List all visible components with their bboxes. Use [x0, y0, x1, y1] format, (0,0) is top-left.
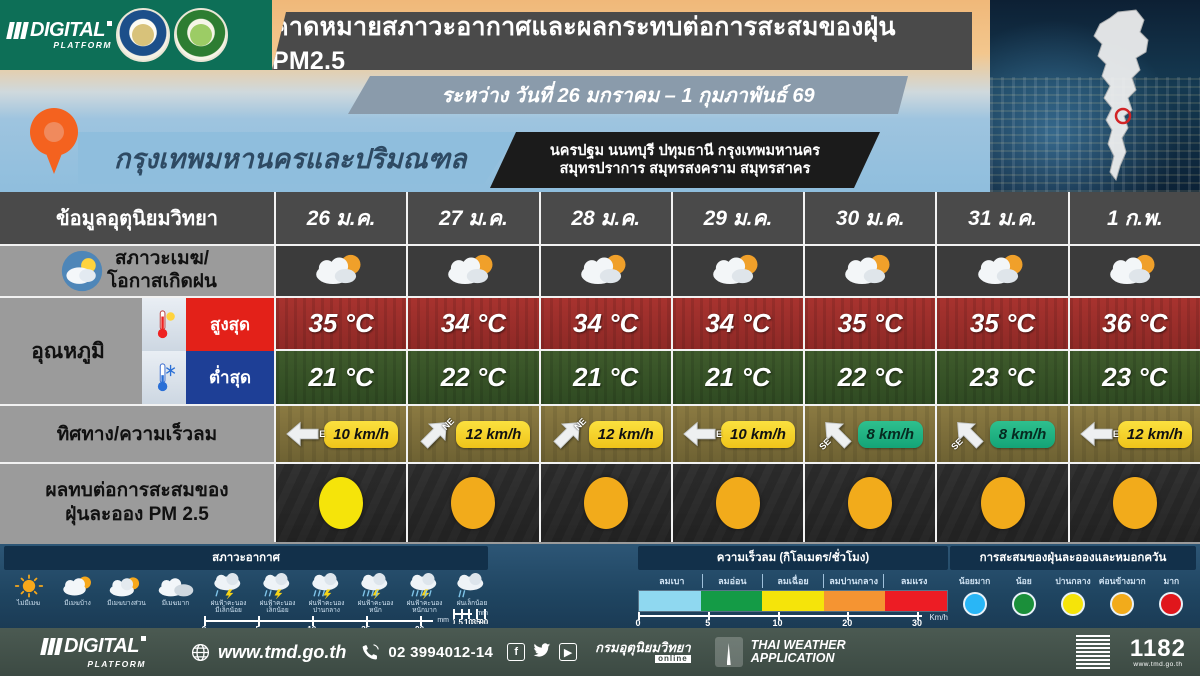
cloud-legend-label: มีเมฆบางส่วน [107, 600, 146, 607]
sky-label-line-2: โอกาสเกิดฝน [107, 271, 217, 294]
phone-info[interactable]: 02 3994012-14 [360, 642, 493, 663]
temp-low-cell-1: 22 °C [408, 351, 540, 404]
wind-axis-tick: 20 [842, 618, 852, 628]
rain-scale-rain: 05103590mm [453, 608, 488, 624]
cloud-sun-icon [108, 573, 146, 599]
date-header-cell-3: 29 ม.ค. [673, 192, 805, 244]
wind-legend-label-0: ลมเบา [642, 574, 703, 588]
date-header-cell-5: 31 ม.ค. [937, 192, 1069, 244]
royal-seal-icon [116, 8, 170, 62]
app-name: THAI WEATHER APPLICATION [751, 639, 846, 665]
pm-legend-label: ค่อนข้างมาก [1099, 574, 1146, 588]
pm25-cell-1 [408, 464, 540, 542]
pm25-cell-5 [937, 464, 1069, 542]
temp-high-value: 34 °C [441, 308, 506, 339]
pm-legend-dot [1012, 592, 1036, 616]
date-header-cell-1: 27 ม.ค. [408, 192, 540, 244]
wind-color-segment-3 [824, 591, 886, 611]
wind-scale: ลมเบาลมอ่อนลมเฉื่อยลมปานกลางลมแรง 051020… [638, 574, 948, 628]
sun-icon [14, 573, 44, 599]
pm25-label-line-1: ผลทบต่อการสะสมของ [45, 479, 228, 503]
temp-high-value: 36 °C [1102, 308, 1167, 339]
date-label: 1 ก.พ. [1107, 202, 1163, 235]
cloud-legend-item-0: ไม่มีเมฆ [4, 573, 53, 607]
partly-cloudy-icon [575, 250, 637, 293]
wind-direction-arrow-icon: E [681, 417, 719, 451]
thunder-legend-group: ฝนฟ้าคะนองมีเล็กน้อยฝนฟ้าคะนองเล็กน้อยฝน… [204, 570, 449, 631]
wind-cell-2: NE12 km/h [541, 406, 673, 462]
wind-direction-arrow-icon: NE [549, 417, 587, 451]
thunder-legend-items: ฝนฟ้าคะนองมีเล็กน้อยฝนฟ้าคะนองเล็กน้อยฝน… [204, 573, 449, 614]
wind-axis-tick: 10 [772, 618, 782, 628]
sky-label-line-1: สภาวะเมฆ/ [107, 248, 217, 271]
temperature-key: สูงสุด [142, 298, 274, 404]
wind-cell-4: SE8 km/h [805, 406, 937, 462]
pm-legend-item-2: ปานกลาง [1048, 574, 1097, 616]
sky-cell-0 [276, 246, 408, 296]
pm-legend-title: การสะสมของฝุ่นละอองและหมอกควัน [950, 546, 1196, 570]
thunder-legend-item-0: ฝนฟ้าคะนองมีเล็กน้อย [204, 573, 253, 614]
date-header-cell-2: 28 ม.ค. [541, 192, 673, 244]
temp-low-text: ต่ำสุด [186, 351, 274, 404]
temp-high-value: 34 °C [705, 308, 770, 339]
date-range-banner: ระหว่าง วันที่ 26 มกราคม – 1 กุมภาพันธ์ … [348, 76, 908, 114]
legend-bar: สภาวะอากาศ ไม่มีเมฆมีเมฆบ้างมีเมฆบางส่วน… [0, 544, 1200, 628]
wind-speed-badge: 12 km/h [589, 421, 663, 448]
footer-brand-name: DIGITAL [64, 635, 139, 658]
pm25-level-dot [1113, 477, 1157, 529]
facebook-icon[interactable]: f [507, 643, 525, 661]
thunder-legend-item-2: ฝนฟ้าคะนองปานกลาง [302, 573, 351, 614]
wind-direction-label: E [716, 429, 722, 439]
temp-low-value: 22 °C [441, 362, 506, 393]
cloud-legend-item-3: มีเมฆมาก [151, 573, 200, 607]
wind-cell-6: E12 km/h [1070, 406, 1200, 462]
cloud-legend-item-1: มีเมฆบ้าง [53, 573, 102, 607]
thunder-legend-label: ฝนฟ้าคะนองเล็กน้อย [260, 600, 296, 614]
temp-high-text: สูงสุด [186, 298, 274, 351]
scale-unit: mm [476, 610, 488, 617]
footer-brand-sub: PLATFORM [87, 659, 146, 669]
date-header-cell-4: 30 ม.ค. [805, 192, 937, 244]
rain-legend-label: ฝนเล็กน้อย [457, 600, 488, 607]
sky-cell-3 [673, 246, 805, 296]
thunder-very-heavy-icon [406, 573, 444, 599]
partly-cloudy-icon [1104, 250, 1166, 293]
pm25-level-dot [451, 477, 495, 529]
thunder-legend-label: ฝนฟ้าคะนองหนักมาก [407, 600, 443, 614]
department-name: กรมอุตุนิยมวิทยา [595, 641, 691, 655]
wind-direction-arrow-icon: E [1078, 417, 1116, 451]
temp-low-value: 23 °C [1102, 362, 1167, 393]
wind-legend: ความเร็วลม (กิโลเมตร/ชั่วโมง) ลมเบาลมอ่อ… [494, 544, 944, 628]
wind-legend-label-1: ลมอ่อน [703, 574, 764, 588]
pm25-cell-6 [1070, 464, 1200, 542]
wind-speed-badge: 10 km/h [721, 421, 795, 448]
temp-high-cell-3: 34 °C [673, 298, 805, 351]
wind-direction-arrow-icon: NE [416, 417, 454, 451]
partly-cloudy-icon [707, 250, 769, 293]
pm-legend-item-0: น้อยมาก [950, 574, 999, 616]
wind-direction-arrow-icon: E [284, 417, 322, 451]
wind-color-segment-1 [701, 591, 763, 611]
hotline-number: 1182 [1130, 637, 1186, 661]
region-name: กรุงเทพมหานครและปริมณฑล [114, 137, 467, 180]
temp-low-cell-4: 22 °C [805, 351, 937, 404]
main-title-text: คาดหมายสภาวะอากาศและผลกระทบต่อการสะสมของ… [272, 7, 972, 76]
temperature-label-text: อุณหภูมิ [0, 335, 136, 368]
footer-logo-square-icon [141, 636, 146, 641]
cloud-legend-item-2: มีเมฆบางส่วน [102, 573, 151, 607]
date-range-text: ระหว่าง วันที่ 26 มกราคม – 1 กุมภาพันธ์ … [441, 79, 814, 111]
qr-caption: www.tmd.go.th [1133, 661, 1182, 668]
sky-cell-1 [408, 246, 540, 296]
pm-legend-label: ปานกลาง [1055, 574, 1090, 588]
wind-color-segment-4 [885, 591, 947, 611]
pm-legend-dot [1061, 592, 1085, 616]
pm-legend-dot [1110, 592, 1134, 616]
footer-logo: DIGITAL PLATFORM [42, 635, 146, 669]
date-label: 27 ม.ค. [439, 202, 508, 235]
partly-cloudy-icon [839, 250, 901, 293]
temp-high-cells: 35 °C34 °C34 °C34 °C35 °C35 °C36 °C [276, 298, 1200, 351]
pm25-row: ผลทบต่อการสะสมของ ฝุ่นละออง PM 2.5 [0, 464, 1200, 542]
globe-icon [190, 642, 211, 663]
pm25-label-line-2: ฝุ่นละออง PM 2.5 [65, 503, 209, 527]
location-pin-icon [30, 108, 78, 176]
temp-high-key: สูงสุด [142, 298, 274, 351]
cloud-legend-items: ไม่มีเมฆมีเมฆบ้างมีเมฆบางส่วนมีเมฆมาก [4, 573, 200, 607]
twitter-icon[interactable] [532, 640, 552, 665]
pm25-level-dot [319, 477, 363, 529]
temp-low-cells: 21 °C22 °C21 °C21 °C22 °C23 °C23 °C [276, 351, 1200, 404]
wind-direction-label: E [1113, 429, 1119, 439]
wind-row: ทิศทาง/ความเร็วลม E10 km/hNE12 km/hNE12 … [0, 406, 1200, 464]
website-link[interactable]: www.tmd.go.th [190, 642, 346, 663]
weather-infographic: DIGITAL PLATFORM คาดหมายสภาวะอากาศและผลก… [0, 0, 1200, 676]
department-label: กรมอุตุนิยมวิทยา online [595, 641, 691, 663]
thunder-legend-label: ฝนฟ้าคะนองหนัก [358, 600, 394, 614]
brand-sub: PLATFORM [53, 41, 112, 50]
date-header-cell-6: 1 ก.พ. [1070, 192, 1200, 244]
wind-direction-arrow-icon: SE [818, 417, 856, 451]
wind-legend-label-4: ลมแรง [884, 574, 944, 588]
pm25-level-dot [716, 477, 760, 529]
wind-axis-tick: 5 [705, 618, 710, 628]
temp-low-key: ต่ำสุด [142, 351, 274, 404]
province-line-2: สมุทรปราการ สมุทรสงคราม สมุทรสาคร [560, 160, 811, 178]
wind-label: ทิศทาง/ความเร็วลม [0, 406, 276, 462]
sky-cell-6 [1070, 246, 1200, 296]
wind-direction-arrow-icon: SE [950, 417, 988, 451]
city-photo [990, 0, 1200, 192]
pm25-label: ผลทบต่อการสะสมของ ฝุ่นละออง PM 2.5 [0, 464, 276, 542]
partly-cloudy-icon [310, 250, 372, 293]
youtube-icon[interactable]: ▶ [559, 643, 577, 661]
wind-color-segment-0 [639, 591, 701, 611]
wind-legend-label-2: ลมเฉื่อย [763, 574, 824, 588]
rain-legend-items: ฝนเล็กน้อยฝนเล็กน้อยฝนปานกลางฝนหนักฝนหนั… [453, 573, 488, 607]
thunder-icon [210, 573, 248, 599]
wind-legend-title: ความเร็วลม (กิโลเมตร/ชั่วโมง) [638, 546, 948, 570]
main-title: คาดหมายสภาวะอากาศและผลกระทบต่อการสะสมของ… [272, 12, 972, 70]
temp-low-cell-5: 23 °C [937, 351, 1069, 404]
table-header-row: ข้อมูลอุตุนิยมวิทยา 26 ม.ค.27 ม.ค.28 ม.ค… [0, 192, 1200, 246]
pm-legend-dot [1159, 592, 1183, 616]
wind-speed-badge: 12 km/h [456, 421, 530, 448]
digital-platform-logo: DIGITAL PLATFORM [8, 20, 112, 50]
pm25-cell-2 [541, 464, 673, 542]
logo-square-icon [107, 21, 112, 26]
header: DIGITAL PLATFORM คาดหมายสภาวะอากาศและผลก… [0, 0, 1200, 192]
pm-legend-item-4: มาก [1147, 574, 1196, 616]
clouds-icon [157, 573, 195, 599]
wind-direction-label: E [319, 429, 325, 439]
temp-high-value: 35 °C [838, 308, 903, 339]
wind-speed-badge: 8 km/h [858, 421, 924, 448]
pm-legend-dot [963, 592, 987, 616]
rain-legend-group: ฝนเล็กน้อยฝนเล็กน้อยฝนปานกลางฝนหนักฝนหนั… [453, 570, 488, 624]
wind-legend-label-3: ลมปานกลาง [824, 574, 885, 588]
sky-legend: สภาวะอากาศ ไม่มีเมฆมีเมฆบ้างมีเมฆบางส่วน… [0, 544, 492, 628]
temp-high-cell-6: 36 °C [1070, 298, 1200, 351]
sun-cloud-icon [59, 573, 97, 599]
thunder-legend-item-3: ฝนฟ้าคะนองหนัก [351, 573, 400, 614]
wind-axis-tick: 30 [912, 618, 922, 628]
forecast-table: ข้อมูลอุตุนิยมวิทยา 26 ม.ค.27 ม.ค.28 ม.ค… [0, 192, 1200, 544]
sky-row-icon [57, 250, 107, 292]
temp-low-cell-0: 21 °C [276, 351, 408, 404]
partly-cloudy-icon [442, 250, 504, 293]
wind-cell-0: E10 km/h [276, 406, 408, 462]
wind-cell-5: SE8 km/h [937, 406, 1069, 462]
thermometer-cold-icon [142, 351, 186, 404]
thunder-legend-item-1: ฝนฟ้าคะนองเล็กน้อย [253, 573, 302, 614]
date-label: 29 ม.ค. [704, 202, 773, 235]
wind-legend-labels: ลมเบาลมอ่อนลมเฉื่อยลมปานกลางลมแรง [638, 574, 948, 588]
tmd-seal-icon [174, 8, 228, 62]
sky-legend-title: สภาวะอากาศ [4, 546, 488, 570]
temperature-label: อุณหภูมิ สูงสุด [0, 298, 276, 404]
sky-condition-row: สภาวะเมฆ/ โอกาสเกิดฝน [0, 246, 1200, 298]
social-links[interactable]: f ▶ [507, 640, 577, 665]
pm-legend-label: น้อยมาก [959, 574, 990, 588]
phone-icon [360, 642, 381, 663]
wind-color-bar [638, 590, 948, 612]
department-online-tag: online [655, 655, 691, 663]
temp-low-value: 23 °C [970, 362, 1035, 393]
pm-legend-item-3: ค่อนข้างมาก [1098, 574, 1147, 616]
pm25-cell-4 [805, 464, 937, 542]
temp-low-value: 22 °C [838, 362, 903, 393]
thunder-legend-label: ฝนฟ้าคะนองปานกลาง [309, 600, 345, 614]
cloud-legend-label: มีเมฆมาก [162, 600, 190, 607]
temp-high-value: 35 °C [970, 308, 1035, 339]
temp-low-cell-2: 21 °C [541, 351, 673, 404]
date-header-cells: 26 ม.ค.27 ม.ค.28 ม.ค.29 ม.ค.30 ม.ค.31 ม.… [276, 192, 1200, 244]
thermometer-hot-icon [142, 298, 186, 351]
date-label: 30 ม.ค. [836, 202, 905, 235]
temp-high-cell-4: 35 °C [805, 298, 937, 351]
sky-cell-2 [541, 246, 673, 296]
rain-light-icon [453, 573, 488, 599]
pm25-cell-3 [673, 464, 805, 542]
footer: DIGITAL PLATFORM www.tmd.go.th 02 39 [0, 628, 1200, 676]
scale-tick: 90 [479, 618, 488, 624]
pm-legend-label: มาก [1164, 574, 1180, 588]
pm-legend: การสะสมของฝุ่นละอองและหมอกควัน น้อยมากน้… [946, 544, 1200, 628]
sky-condition-label: สภาวะเมฆ/ โอกาสเกิดฝน [0, 246, 276, 296]
scale-tick: 0 [453, 618, 455, 624]
wind-axis: 05102030Km/h [638, 612, 948, 628]
wind-cells: E10 km/hNE12 km/hNE12 km/hE10 km/hSE8 km… [276, 406, 1200, 462]
wind-speed-badge: 10 km/h [324, 421, 398, 448]
cloud-legend-label: ไม่มีเมฆ [17, 600, 40, 607]
temple-app-icon [715, 637, 743, 667]
brand-name: DIGITAL [30, 20, 105, 40]
temp-high-cell-0: 35 °C [276, 298, 408, 351]
thunder-legend-item-4: ฝนฟ้าคะนองหนักมาก [400, 573, 449, 614]
date-label: 31 ม.ค. [968, 202, 1037, 235]
hotline: 1182 www.tmd.go.th [1130, 637, 1186, 668]
pm25-level-dot [848, 477, 892, 529]
province-list: นครปฐม นนทบุรี ปทุมธานี กรุงเทพมหานคร สม… [490, 132, 880, 188]
phone-text: 02 3994012-14 [388, 644, 493, 661]
pm25-level-dot [584, 477, 628, 529]
scale-unit: mm [437, 617, 449, 624]
temp-low-value: 21 °C [308, 362, 373, 393]
sky-cell-5 [937, 246, 1069, 296]
date-header-cell-0: 26 ม.ค. [276, 192, 408, 244]
thunder-light-icon [259, 573, 297, 599]
wind-color-segment-2 [762, 591, 824, 611]
temp-high-cell-1: 34 °C [408, 298, 540, 351]
pm-legend-label: น้อย [1016, 574, 1032, 588]
temp-low-value: 21 °C [705, 362, 770, 393]
temp-low-value: 21 °C [573, 362, 638, 393]
thunder-legend-label: ฝนฟ้าคะนองมีเล็กน้อย [211, 600, 247, 614]
temp-high-cell-2: 34 °C [541, 298, 673, 351]
wind-cell-3: E10 km/h [673, 406, 805, 462]
cloud-legend-label: มีเมฆบ้าง [64, 600, 91, 607]
temp-high-value: 35 °C [308, 308, 373, 339]
header-logo-bar: DIGITAL PLATFORM [0, 0, 272, 70]
temperature-row: อุณหภูมิ สูงสุด [0, 298, 1200, 406]
footer-logo-bars-icon [42, 638, 61, 655]
thai-weather-app[interactable]: THAI WEATHER APPLICATION [715, 637, 846, 667]
temp-low-cell-3: 21 °C [673, 351, 805, 404]
region-banner: กรุงเทพมหานครและปริมณฑล [78, 132, 518, 184]
temperature-values: 35 °C34 °C34 °C34 °C35 °C35 °C36 °C 21 °… [276, 298, 1200, 404]
wind-speed-badge: 12 km/h [1118, 421, 1192, 448]
sky-cell-4 [805, 246, 937, 296]
date-label: 26 ม.ค. [307, 202, 376, 235]
pm25-cells [276, 464, 1200, 542]
qr-code-icon[interactable] [1076, 635, 1110, 669]
date-label: 28 ม.ค. [571, 202, 640, 235]
wind-axis-tick: 0 [635, 618, 640, 628]
rain-legend-item-0: ฝนเล็กน้อย [453, 573, 488, 607]
pm-legend-items: น้อยมากน้อยปานกลางค่อนข้างมากมาก [950, 574, 1196, 616]
app-name-line-2: APPLICATION [751, 652, 846, 665]
pm-legend-item-1: น้อย [999, 574, 1048, 616]
pm25-level-dot [981, 477, 1025, 529]
scale-tick: 5 [458, 618, 462, 624]
website-text: www.tmd.go.th [218, 642, 346, 663]
temp-low-cell-6: 23 °C [1070, 351, 1200, 404]
temp-high-value: 34 °C [573, 308, 638, 339]
logo-bars-icon [8, 22, 27, 39]
table-corner-label: ข้อมูลอุตุนิยมวิทยา [0, 192, 276, 244]
thunder-moderate-icon [308, 573, 346, 599]
sky-cells [276, 246, 1200, 296]
thailand-map-icon [1066, 6, 1186, 186]
wind-speed-badge: 8 km/h [990, 421, 1056, 448]
partly-cloudy-icon [972, 250, 1034, 293]
province-line-1: นครปฐม นนทบุรี ปทุมธานี กรุงเทพมหานคร [550, 142, 820, 160]
wind-cell-1: NE12 km/h [408, 406, 540, 462]
temp-high-cell-5: 35 °C [937, 298, 1069, 351]
pm25-cell-0 [276, 464, 408, 542]
thunder-heavy-icon [357, 573, 395, 599]
